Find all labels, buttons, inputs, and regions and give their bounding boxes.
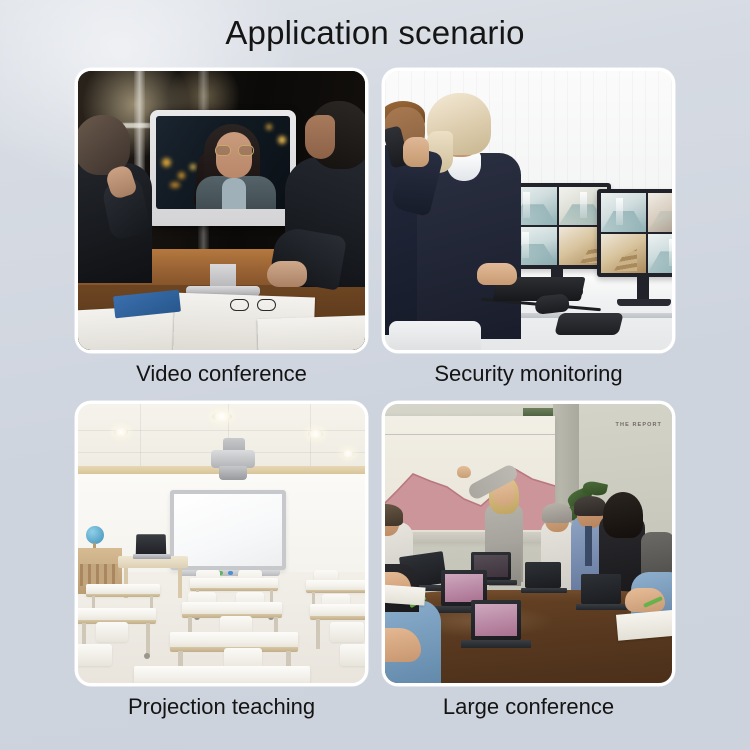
student-desk	[170, 632, 298, 648]
document-sheet	[257, 315, 368, 353]
cctv-quad-view	[601, 193, 675, 273]
teacher-laptop-screen	[136, 534, 167, 556]
photo-large-conference[interactable]: THE REPORT	[382, 401, 675, 686]
scenario-card-video-conference[interactable]: Video conference	[75, 68, 368, 353]
office-chair	[389, 321, 481, 353]
person-man-hand	[403, 137, 429, 167]
eyeglasses-on-table-icon	[230, 299, 276, 311]
person-woman-hands	[477, 263, 517, 285]
ceiling-light	[212, 412, 232, 421]
conference-speakerphone	[554, 313, 623, 335]
caption-large-conference: Large conference	[382, 692, 675, 722]
caption-video-conference: Video conference	[75, 359, 368, 389]
scene-projection-teaching	[78, 404, 365, 683]
student-chair	[96, 622, 128, 642]
cctv-feed	[648, 193, 675, 232]
eyeglasses-icon	[215, 145, 254, 156]
notepad	[382, 584, 426, 605]
projector-lens-icon	[219, 466, 247, 480]
cctv-feed	[648, 234, 675, 273]
scene-video-conference	[78, 71, 365, 350]
scenario-card-large-conference[interactable]: THE REPORT	[382, 401, 675, 686]
attendee-tie	[585, 526, 592, 566]
student-chair	[340, 644, 368, 666]
notepad	[616, 609, 675, 640]
caption-projection-teaching: Projection teaching	[75, 692, 368, 722]
photo-security-monitoring[interactable]	[382, 68, 675, 353]
scenario-card-projection-teaching[interactable]: Projection teaching	[75, 401, 368, 686]
slide-divider	[382, 434, 555, 435]
caller-shirt	[222, 178, 246, 209]
caption-security-monitoring: Security monitoring	[382, 359, 675, 389]
photo-video-conference[interactable]	[75, 68, 368, 353]
scenario-card-security-monitoring[interactable]: Security monitoring	[382, 68, 675, 353]
scene-large-conference: THE REPORT	[385, 404, 672, 683]
scene-security-monitoring	[385, 71, 672, 350]
student-chair	[76, 644, 112, 666]
attendee-hair	[603, 492, 643, 538]
desktop-monitor	[150, 110, 296, 226]
presenter-hand	[457, 466, 471, 478]
cctv-feed	[601, 234, 646, 273]
teacher-laptop-base	[133, 554, 171, 559]
student-desk	[134, 666, 310, 686]
slide-title: THE REPORT	[616, 422, 662, 428]
cabinet-shelf	[80, 564, 118, 586]
cctv-quad-view	[509, 187, 607, 265]
cctv-feed	[601, 193, 646, 232]
page-title: Application scenario	[0, 14, 750, 52]
scenario-grid: Video conference	[75, 68, 675, 718]
person-right-hand	[267, 261, 307, 287]
attendee-hair	[574, 496, 606, 516]
person-right-face	[305, 115, 335, 159]
cctv-monitor-2	[597, 189, 675, 277]
ceiling-light	[114, 428, 128, 436]
attendee-hair	[542, 503, 572, 523]
photo-projection-teaching[interactable]	[75, 401, 368, 686]
ceiling-light	[342, 450, 354, 457]
computer-mouse	[534, 293, 570, 314]
student-chair	[330, 622, 364, 642]
teacher-desk-leg	[178, 568, 182, 598]
globe-icon	[86, 526, 104, 544]
monitor-stand	[637, 277, 649, 301]
monitor-screen	[156, 116, 290, 209]
ceiling-light	[308, 430, 323, 438]
monitor-base	[617, 299, 671, 306]
